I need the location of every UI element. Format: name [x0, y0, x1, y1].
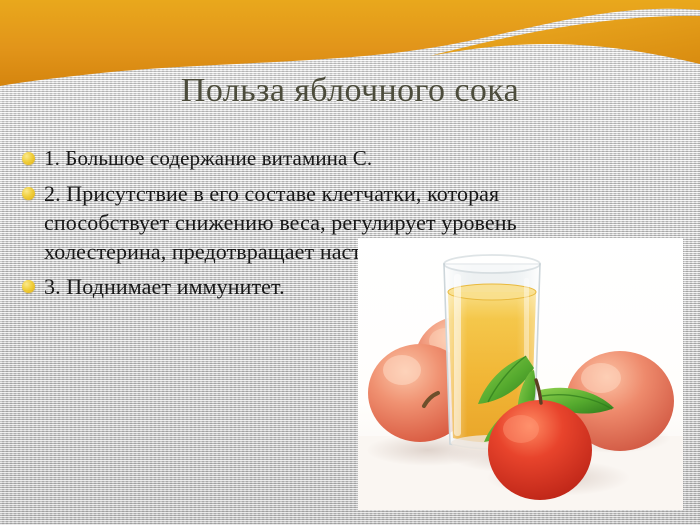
bullet-dot-icon — [22, 187, 35, 200]
presentation-slide: Польза яблочного сока 1. Большое содержа… — [0, 0, 700, 525]
page-title: Польза яблочного сока — [0, 72, 700, 110]
list-item-text: 1. Большое содержание витамина С. — [44, 144, 372, 173]
list-item: 1. Большое содержание витамина С. — [22, 144, 622, 173]
bullet-dot-icon — [22, 280, 35, 293]
list-item-text: 3. Поднимает иммунитет. — [44, 272, 285, 301]
bullet-dot-icon — [22, 152, 35, 165]
photo-illustration — [358, 238, 683, 510]
apple-juice-photo — [358, 238, 683, 510]
